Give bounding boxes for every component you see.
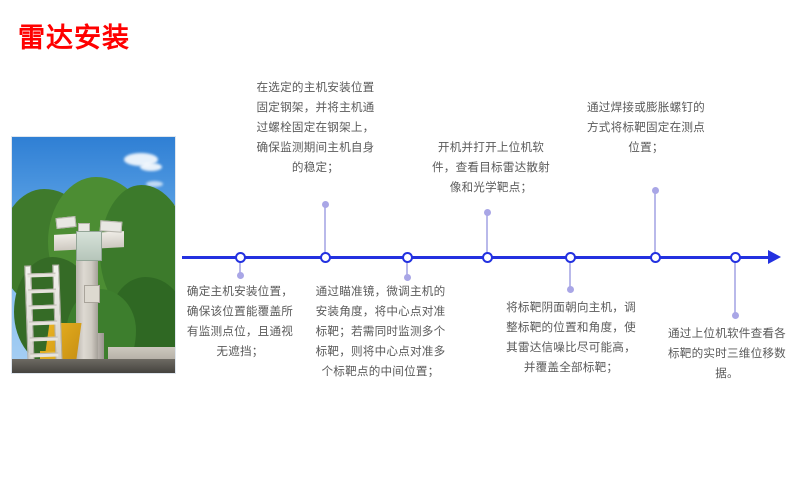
timeline-arrow-icon — [768, 250, 781, 264]
timeline-node-5[interactable] — [565, 252, 576, 263]
step-text-1: 确定主机安装位置，确保该位置能覆盖所有监测点位，且通视无遮挡； — [182, 282, 298, 362]
step-text-5: 将标靶阴面朝向主机，调整标靶的位置和角度，使其雷达信噪比尽可能高，并覆盖全部标靶… — [506, 298, 636, 378]
photo-ladder-rung — [29, 321, 57, 326]
timeline-node-2[interactable] — [320, 252, 331, 263]
connector-6 — [654, 190, 656, 256]
photo-radar-sensor — [100, 220, 123, 233]
connector-dot — [404, 274, 411, 281]
connector-dot — [652, 187, 659, 194]
connector-4 — [486, 212, 488, 256]
timeline-node-6[interactable] — [650, 252, 661, 263]
photo-concrete-pole — [76, 245, 98, 373]
photo-radar-host-enclosure — [76, 231, 102, 261]
radar-installation-photo — [12, 137, 175, 373]
connector-2 — [324, 204, 326, 256]
photo-cloud — [140, 163, 162, 171]
step-text-7: 通过上位机软件查看各标靶的实时三维位移数据。 — [665, 324, 789, 384]
photo-radar-sensor — [55, 216, 76, 229]
timeline-node-4[interactable] — [482, 252, 493, 263]
connector-dot — [732, 312, 739, 319]
photo-ladder-rung — [30, 353, 58, 358]
connector-dot — [322, 201, 329, 208]
timeline-axis — [182, 256, 772, 259]
photo-junction-box — [84, 285, 100, 303]
photo-ladder — [24, 264, 64, 369]
timeline-node-7[interactable] — [730, 252, 741, 263]
connector-dot — [484, 209, 491, 216]
step-text-4: 开机并打开上位机软件，查看目标雷达散射像和光学靶点； — [432, 138, 550, 198]
timeline-node-1[interactable] — [235, 252, 246, 263]
photo-ladder-rung — [29, 305, 57, 310]
photo-ladder-rung — [30, 337, 58, 342]
step-text-3: 通过瞄准镜，微调主机的安装角度，将中心点对准标靶；若需同时监测多个标靶，则将中心… — [313, 282, 448, 382]
photo-ladder-rung — [28, 289, 56, 294]
timeline-node-3[interactable] — [402, 252, 413, 263]
connector-7 — [734, 258, 736, 316]
photo-ground — [12, 359, 175, 373]
connector-dot — [237, 272, 244, 279]
step-text-2: 在选定的主机安装位置固定钢架，并将主机通过螺栓固定在钢架上，确保监测期间主机自身… — [253, 78, 378, 178]
page-title: 雷达安装 — [18, 22, 130, 54]
connector-dot — [567, 286, 574, 293]
step-text-6: 通过焊接或膨胀螺钉的方式将标靶固定在测点位置； — [585, 98, 707, 158]
photo-ladder-rung — [27, 273, 55, 278]
slide-canvas: 雷达安装 — [0, 0, 800, 480]
